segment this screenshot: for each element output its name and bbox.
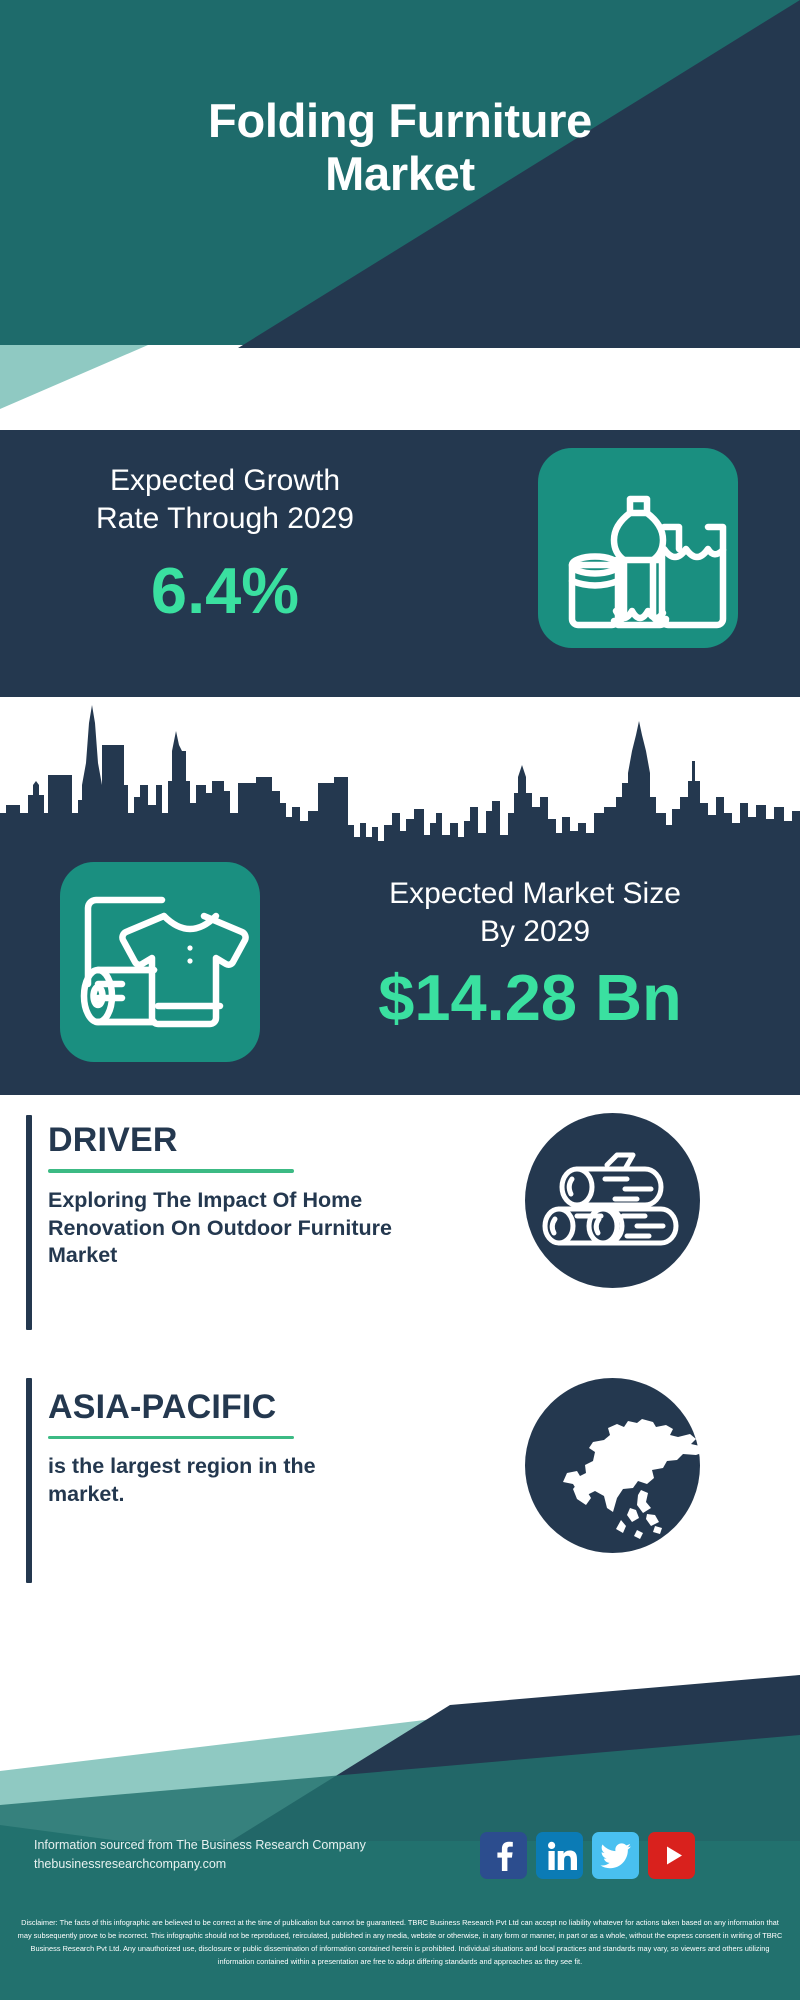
youtube-icon[interactable] (648, 1832, 695, 1879)
facebook-icon[interactable] (480, 1832, 527, 1879)
wood-logs-glyph (525, 1113, 700, 1288)
driver-card: DRIVER Exploring The Impact Of Home Reno… (0, 1095, 800, 1370)
region-card: ASIA-PACIFIC is the largest region in th… (0, 1360, 800, 1635)
driver-underline (48, 1169, 294, 1173)
driver-body: Exploring The Impact Of Home Renovation … (48, 1187, 428, 1270)
linkedin-icon[interactable]: ™ (536, 1832, 583, 1879)
region-accent-rule (26, 1378, 32, 1583)
growth-rate-label-line1: Expected Growth (30, 462, 420, 500)
market-size-value: $14.28 Bn (280, 965, 780, 1030)
region-underline (48, 1436, 294, 1439)
twitter-glyph (592, 1832, 639, 1879)
driver-accent-rule (26, 1115, 32, 1330)
header-divider-band (0, 345, 800, 430)
youtube-glyph (648, 1832, 695, 1879)
market-size-label-line1: Expected Market Size (300, 875, 770, 913)
insights-section: DRIVER Exploring The Impact Of Home Reno… (0, 1095, 800, 1675)
header-banner: Folding Furniture Market (0, 0, 800, 345)
wood-logs-icon (525, 1113, 700, 1288)
page-title-line1: Folding Furniture (0, 95, 800, 148)
social-links[interactable]: ™ (480, 1832, 695, 1879)
twitter-icon[interactable] (592, 1832, 639, 1879)
asia-map-glyph (525, 1378, 700, 1553)
divider-wedge-shapes (0, 345, 800, 430)
page-title: Folding Furniture Market (0, 95, 800, 200)
driver-heading: DRIVER (48, 1121, 448, 1160)
footer-credit: Information sourced from The Business Re… (34, 1836, 454, 1875)
disclaimer-paragraph: Disclaimer: The facts of this infographi… (16, 1917, 784, 1969)
region-body: is the largest region in the market. (48, 1453, 378, 1508)
plastic-bottle-cup-bag-glyph (538, 448, 738, 648)
growth-rate-label: Expected Growth Rate Through 2029 (30, 462, 420, 539)
tshirt-fabric-roll-glyph (60, 862, 260, 1062)
tshirt-fabric-roll-icon (60, 862, 260, 1062)
market-size-label: Expected Market Size By 2029 (300, 875, 770, 952)
growth-rate-value: 6.4% (30, 558, 420, 623)
disclaimer-text: Disclaimer: The facts of this infographi… (0, 1910, 800, 2000)
facebook-glyph (480, 1832, 527, 1879)
growth-rate-label-line2: Rate Through 2029 (30, 500, 420, 538)
market-size-label-line2: By 2029 (300, 913, 770, 951)
page-title-line2: Market (0, 148, 800, 201)
footer-credit-line2[interactable]: thebusinessresearchcompany.com (34, 1855, 454, 1874)
svg-text:™: ™ (573, 1866, 578, 1872)
region-heading: ASIA-PACIFIC (48, 1388, 448, 1427)
footer-credit-line1: Information sourced from The Business Re… (34, 1836, 454, 1855)
infographic-page: Folding Furniture Market Expected Growth… (0, 0, 800, 2000)
plastic-bottle-cup-bag-icon (538, 448, 738, 648)
linkedin-glyph: ™ (536, 1832, 583, 1879)
asia-map-icon (525, 1378, 700, 1553)
